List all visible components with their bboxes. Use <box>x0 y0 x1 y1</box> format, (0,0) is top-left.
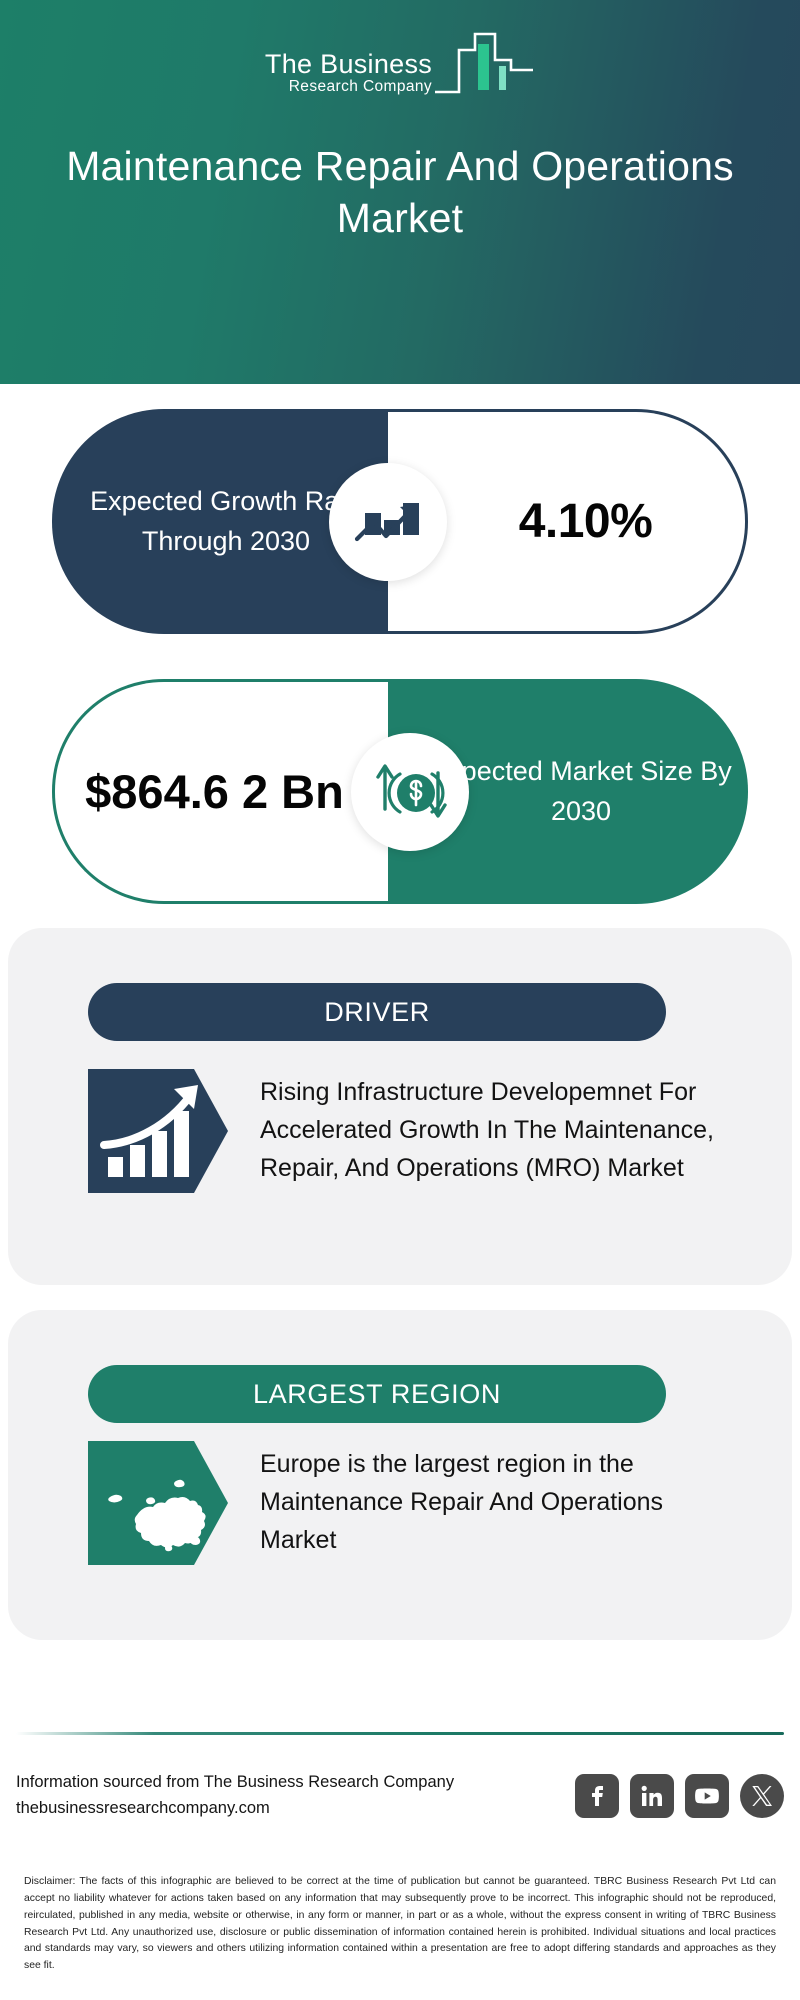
rising-bar-arrow-icon <box>88 1069 228 1209</box>
growth-chart-icon <box>329 463 447 581</box>
footer-row: Information sourced from The Business Re… <box>16 1770 784 1821</box>
linkedin-icon[interactable] <box>630 1774 674 1818</box>
stat-card-growth-rate: Expected Growth Rate Through 2030 4.10% <box>52 409 748 634</box>
stat-card-market-size-value: $864.6 2 Bn <box>63 763 380 820</box>
largest-region-body: Europe is the largest region in the Main… <box>88 1441 732 1581</box>
stat-card-market-size-value-panel: $864.6 2 Bn <box>52 679 388 904</box>
footer-credit-line-2: thebusinessresearchcompany.com <box>16 1796 454 1822</box>
facebook-icon[interactable] <box>575 1774 619 1818</box>
youtube-icon[interactable] <box>685 1774 729 1818</box>
x-twitter-icon[interactable] <box>740 1774 784 1818</box>
driver-pill-label: DRIVER <box>324 997 430 1028</box>
largest-region-pill-label: LARGEST REGION <box>253 1379 501 1410</box>
bar-chart-logo-mark-icon <box>433 26 535 105</box>
driver-text: Rising Infrastructure Developemnet For A… <box>260 1069 732 1187</box>
header-banner: The Business Research Company Maintenanc… <box>0 0 800 384</box>
logo-line-2: Research Company <box>289 78 432 97</box>
stat-card-growth-rate-value: 4.10% <box>481 494 653 549</box>
page-title: Maintenance Repair And Operations Market <box>50 140 750 245</box>
stat-card-market-size: $864.6 2 Bn Expected Market Size By 2030 <box>52 679 748 904</box>
footer-credit-line-1: Information sourced from The Business Re… <box>16 1770 454 1796</box>
logo-line-1: The Business <box>265 50 432 78</box>
driver-body: Rising Infrastructure Developemnet For A… <box>88 1069 732 1209</box>
infographic-page: The Business Research Company Maintenanc… <box>0 0 800 2000</box>
largest-region-text: Europe is the largest region in the Main… <box>260 1441 732 1559</box>
largest-region-pill: LARGEST REGION <box>88 1365 666 1423</box>
driver-panel: DRIVER Rising Infrastructure Developemne… <box>8 928 792 1285</box>
footer-divider <box>16 1732 784 1735</box>
dollar-circle-arrows-icon <box>351 733 469 851</box>
footer-credit: Information sourced from The Business Re… <box>16 1770 454 1821</box>
social-links <box>575 1774 784 1818</box>
largest-region-panel: LARGEST REGION Europe is the <box>8 1310 792 1640</box>
company-logo: The Business Research Company <box>0 26 800 105</box>
driver-pill: DRIVER <box>88 983 666 1041</box>
disclaimer-text: Disclaimer: The facts of this infographi… <box>24 1874 776 1975</box>
europe-map-icon <box>88 1441 228 1581</box>
